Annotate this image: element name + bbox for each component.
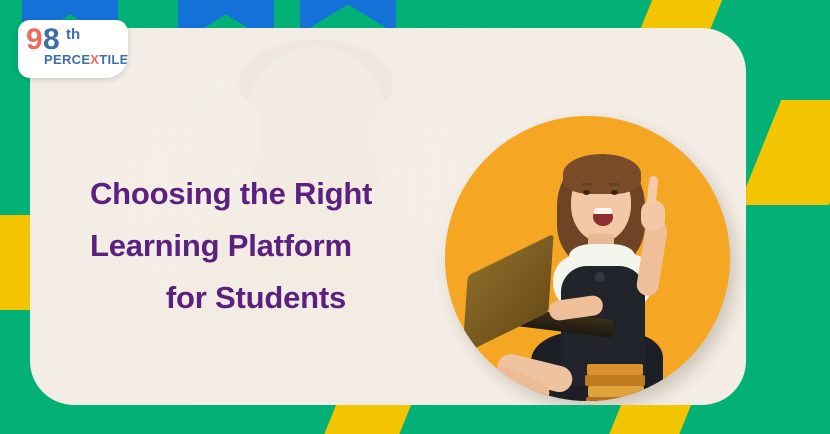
girl-dress-button (595, 272, 605, 282)
girl-fringe (563, 154, 641, 194)
logo-word-x: X (90, 52, 99, 67)
girl-eyebrow (609, 183, 620, 186)
brand-logo[interactable]: 9 8 th PERCEXTILE (18, 20, 128, 78)
logo-word-part-2: TILE (99, 52, 128, 67)
student-portrait (445, 116, 730, 401)
blog-banner: Choosing the Right Learning Platform for… (0, 0, 830, 434)
logo-digit-eight: 8 (43, 25, 60, 55)
logo-word-part-1: PERCE (44, 52, 90, 67)
title-line-3: for Students (90, 272, 440, 324)
laptop-screen (462, 234, 553, 355)
title-line-2: Learning Platform (90, 220, 440, 272)
logo-digit-nine: 9 (26, 25, 43, 55)
book-stack-item (588, 386, 644, 397)
book-stack-item (586, 397, 644, 401)
girl-eyebrow (581, 183, 592, 186)
girl-teeth (594, 208, 612, 214)
girl-eye (583, 190, 590, 195)
logo-suffix: th (66, 26, 80, 43)
book-stack-item (585, 375, 645, 386)
page-title: Choosing the Right Learning Platform for… (90, 168, 440, 324)
content-card: Choosing the Right Learning Platform for… (30, 28, 746, 405)
logo-wordmark: PERCEXTILE (44, 52, 128, 67)
logo-mark: 9 8 th (26, 25, 122, 55)
yellow-stripe (739, 100, 830, 205)
book-stack-item (587, 364, 643, 375)
girl-eye (611, 190, 618, 195)
portrait-illustration (445, 116, 730, 401)
title-line-1: Choosing the Right (90, 168, 440, 220)
